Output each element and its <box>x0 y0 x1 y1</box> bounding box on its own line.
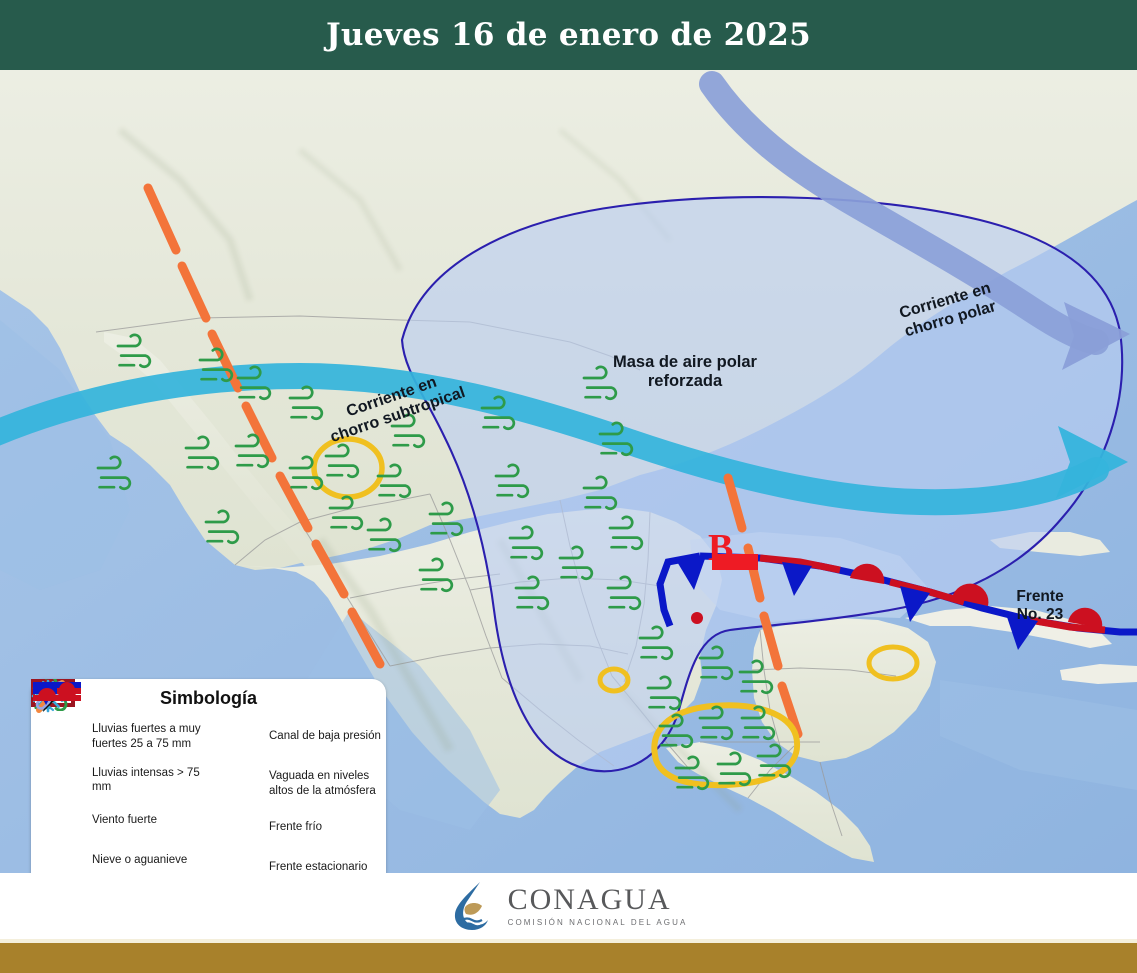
legend-label: Vaguada en niveles altos de la atmósfera <box>269 769 385 797</box>
legend-item-cold-front[interactable]: Frente frío <box>208 807 385 847</box>
legend-item-snow[interactable]: Nieve o aguanieve <box>31 840 208 873</box>
legend-item-stationary-front[interactable]: Frente estacionario <box>208 847 385 873</box>
conagua-logo: CONAGUA COMISIÓN NACIONAL DEL AGUA <box>450 880 688 932</box>
legend-label: Lluvias intensas > 75 mm <box>92 766 208 794</box>
low-center-block <box>712 554 758 570</box>
legend-label: Nieve o aguanieve <box>92 853 187 867</box>
water-drop-icon <box>450 880 496 932</box>
legend-label: Frente frío <box>269 820 322 834</box>
legend-panel: Simbología Lluvias fuertes a muy fuertes… <box>31 679 386 873</box>
front-endpoint <box>691 612 703 624</box>
legend-item-low-pressure-trough[interactable]: Canal de baja presión <box>208 713 385 760</box>
legend-column-right: Canal de baja presión Vaguada en nive <box>208 713 385 873</box>
weather-map-page: Jueves 16 de enero de 2025 <box>0 0 1137 973</box>
legend-item-upper-trough[interactable]: Vaguada en niveles altos de la atmósfera <box>208 760 385 807</box>
logo-wordmark: CONAGUA <box>508 885 688 915</box>
legend-item-heavy-rain[interactable]: Lluvias fuertes a muy fuertes 25 a 75 mm <box>31 713 208 760</box>
legend-item-strong-wind[interactable]: Viento fuerte <box>31 800 208 840</box>
weather-map[interactable]: Masa de aire polar reforzada Corriente e… <box>0 70 1137 873</box>
legend-label: Frente estacionario <box>269 860 367 873</box>
legend-item-intense-rain[interactable]: Lluvias intensas > 75 mm <box>31 760 208 800</box>
page-header: Jueves 16 de enero de 2025 <box>0 0 1137 70</box>
logo-subtitle: COMISIÓN NACIONAL DEL AGUA <box>508 918 688 927</box>
legend-title: Simbología <box>31 688 386 709</box>
page-title: Jueves 16 de enero de 2025 <box>326 17 811 53</box>
legend-label: Lluvias fuertes a muy fuertes 25 a 75 mm <box>92 722 208 750</box>
legend-label: Viento fuerte <box>92 813 157 827</box>
legend-label: Canal de baja presión <box>269 729 381 743</box>
footer-gold-bar <box>0 943 1137 973</box>
page-footer: CONAGUA COMISIÓN NACIONAL DEL AGUA <box>0 873 1137 939</box>
legend-column-left: Lluvias fuertes a muy fuertes 25 a 75 mm… <box>31 713 208 873</box>
